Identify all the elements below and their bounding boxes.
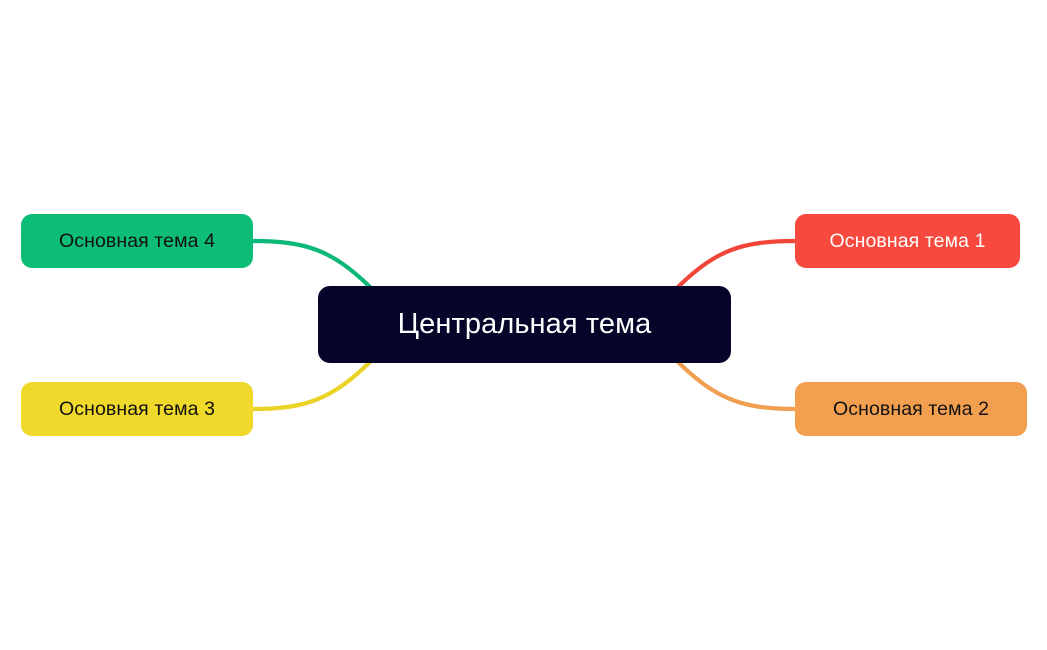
connector-branch-4 <box>253 241 370 287</box>
mind-map-canvas: Основная тема 4 Основная тема 3 Основная… <box>0 0 1047 650</box>
connector-branch-3 <box>253 362 370 409</box>
branch-node-2[interactable]: Основная тема 2 <box>795 382 1027 436</box>
connector-branch-1 <box>678 241 795 287</box>
branch-node-3[interactable]: Основная тема 3 <box>21 382 253 436</box>
branch-node-1[interactable]: Основная тема 1 <box>795 214 1020 268</box>
connector-branch-2 <box>678 362 795 409</box>
branch-node-4[interactable]: Основная тема 4 <box>21 214 253 268</box>
central-node[interactable]: Центральная тема <box>318 286 731 363</box>
